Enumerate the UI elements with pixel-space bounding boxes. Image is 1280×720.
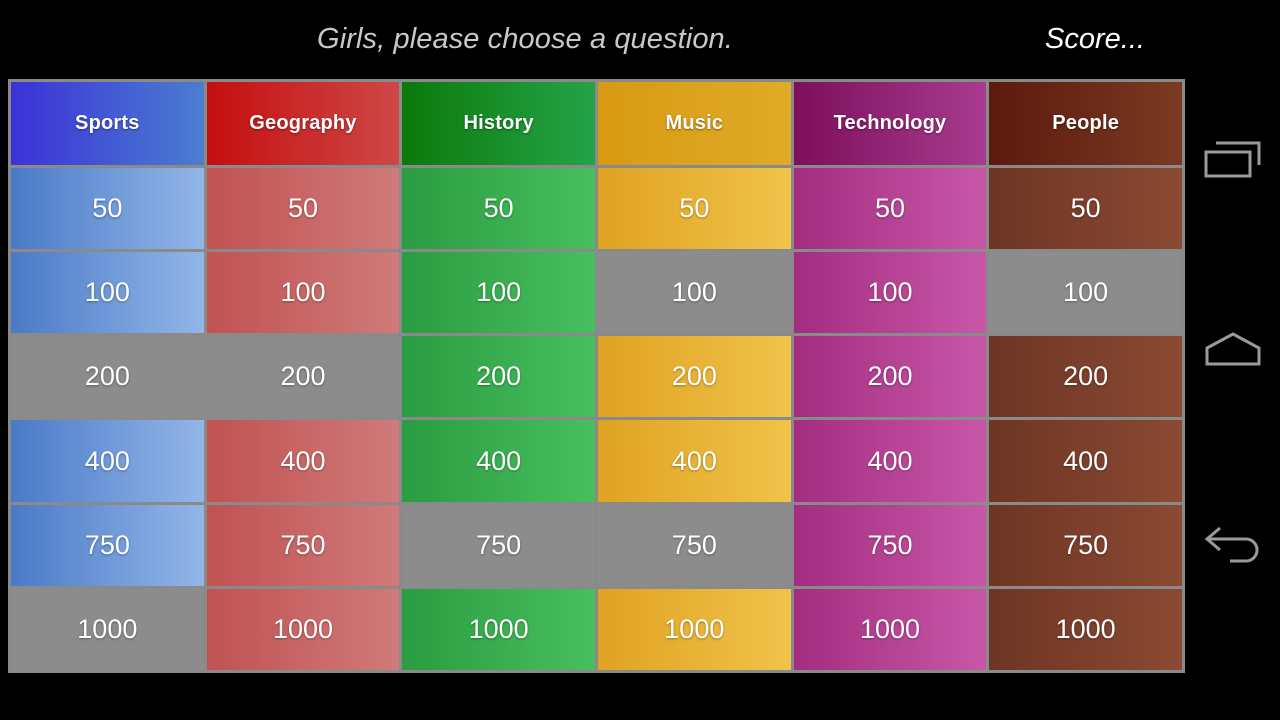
value-cell[interactable]: 400 (207, 420, 400, 501)
value-cell-used: 100 (989, 252, 1182, 333)
back-button[interactable] (1185, 510, 1280, 580)
home-button[interactable] (1185, 315, 1280, 385)
value-cell-used: 750 (598, 505, 791, 586)
header-bar: Girls, please choose a question. Score..… (0, 0, 1190, 78)
value-cell[interactable]: 750 (794, 505, 987, 586)
jeopardy-board: SportsGeographyHistoryMusicTechnologyPeo… (8, 79, 1185, 673)
value-cell[interactable]: 400 (402, 420, 595, 501)
prompt-message: Girls, please choose a question. (0, 0, 1050, 78)
value-cell[interactable]: 1000 (402, 589, 595, 670)
value-cell[interactable]: 750 (989, 505, 1182, 586)
value-cell[interactable]: 100 (11, 252, 204, 333)
value-cell[interactable]: 400 (989, 420, 1182, 501)
category-header: Technology (794, 82, 987, 165)
value-cell-used: 750 (402, 505, 595, 586)
score-button[interactable]: Score... (1000, 0, 1190, 78)
value-cell-used: 1000 (11, 589, 204, 670)
value-cell[interactable]: 750 (11, 505, 204, 586)
recents-icon (1202, 139, 1264, 181)
home-icon (1203, 330, 1263, 370)
value-cell[interactable]: 50 (11, 168, 204, 249)
recents-button[interactable] (1185, 125, 1280, 195)
value-cell[interactable]: 50 (989, 168, 1182, 249)
value-cell[interactable]: 400 (598, 420, 791, 501)
value-cell[interactable]: 400 (11, 420, 204, 501)
category-header: Sports (11, 82, 204, 165)
android-screen: Girls, please choose a question. Score..… (0, 0, 1280, 720)
value-cell[interactable]: 1000 (794, 589, 987, 670)
android-navigation-bar (1185, 0, 1280, 720)
value-cell[interactable]: 1000 (989, 589, 1182, 670)
value-cell[interactable]: 100 (794, 252, 987, 333)
category-header: History (402, 82, 595, 165)
value-cell[interactable]: 200 (989, 336, 1182, 417)
value-cell[interactable]: 200 (598, 336, 791, 417)
value-cell-used: 200 (11, 336, 204, 417)
value-cell[interactable]: 50 (598, 168, 791, 249)
value-cell[interactable]: 100 (402, 252, 595, 333)
value-cell-used: 200 (207, 336, 400, 417)
value-cell[interactable]: 100 (207, 252, 400, 333)
value-cell[interactable]: 1000 (598, 589, 791, 670)
value-cell[interactable]: 50 (794, 168, 987, 249)
value-cell[interactable]: 50 (402, 168, 595, 249)
category-header: Music (598, 82, 791, 165)
value-cell[interactable]: 750 (207, 505, 400, 586)
value-cell[interactable]: 200 (402, 336, 595, 417)
category-header: People (989, 82, 1182, 165)
back-icon (1202, 523, 1264, 567)
value-cell[interactable]: 50 (207, 168, 400, 249)
category-header: Geography (207, 82, 400, 165)
value-cell[interactable]: 1000 (207, 589, 400, 670)
value-cell[interactable]: 400 (794, 420, 987, 501)
value-cell[interactable]: 200 (794, 336, 987, 417)
value-cell-used: 100 (598, 252, 791, 333)
